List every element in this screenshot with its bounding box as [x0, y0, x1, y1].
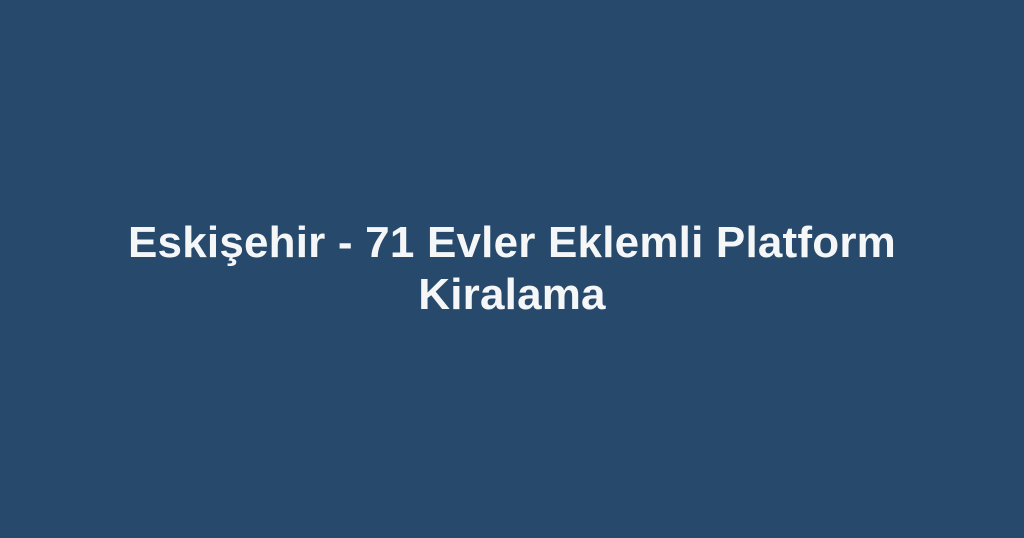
hero-banner: Eskişehir - 71 Evler Eklemli Platform Ki…: [0, 0, 1024, 538]
title-block: Eskişehir - 71 Evler Eklemli Platform Ki…: [72, 217, 952, 321]
page-title: Eskişehir - 71 Evler Eklemli Platform Ki…: [88, 217, 936, 321]
